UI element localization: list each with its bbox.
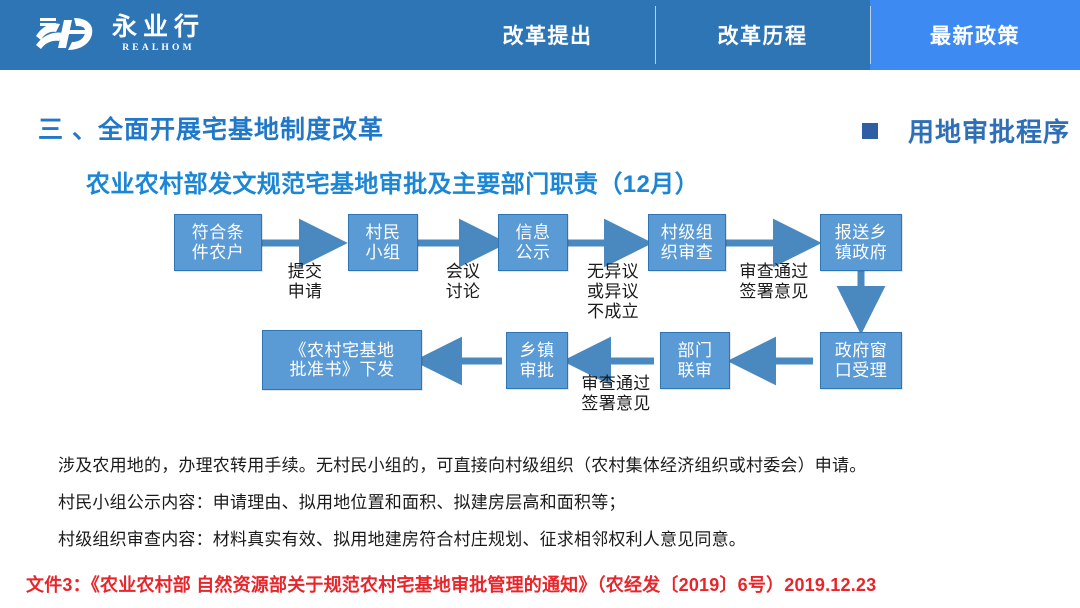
flow-node-eligible-farmer[interactable]: 符合条 件农户 — [174, 214, 262, 271]
flow-node-information-publicity[interactable]: 信息 公示 — [498, 214, 568, 271]
flow-node-village-org-review[interactable]: 村级组 织审查 — [648, 214, 726, 271]
flow-node-label: 报送乡 镇政府 — [835, 223, 888, 261]
flow-node-label: 村民 小组 — [366, 223, 401, 261]
flow-arrows — [0, 0, 1080, 608]
flow-node-approval-certificate-issued[interactable]: 《农村宅基地 批准书》下发 — [262, 330, 422, 390]
body-text-line-2: 村民小组公示内容：申请理由、拟用地位置和面积、拟建房层高和面积等； — [58, 488, 626, 513]
flow-node-label: 村级组 织审查 — [661, 223, 714, 261]
flow-node-label: 乡镇 审批 — [520, 341, 555, 379]
approval-flow-diagram: 符合条 件农户 村民 小组 信息 公示 村级组 织审查 报送乡 镇政府 政府窗 … — [0, 0, 1080, 608]
flow-node-gov-window-acceptance[interactable]: 政府窗 口受理 — [820, 332, 902, 389]
flow-node-submit-to-township-gov[interactable]: 报送乡 镇政府 — [820, 214, 902, 271]
flow-node-label: 政府窗 口受理 — [835, 341, 888, 379]
flow-edge-label-submit-application: 提交 申请 — [270, 262, 340, 302]
body-text-line-1: 涉及农用地的，办理农转用手续。无村民小组的，可直接向村级组织（农村集体经济组织或… — [58, 451, 866, 476]
flow-node-label: 符合条 件农户 — [192, 223, 245, 261]
body-text-line-3: 村级组织审查内容：材料真实有效、拟用地建房符合村庄规划、征求相邻权利人意见同意。 — [58, 525, 746, 550]
flow-node-joint-department-review[interactable]: 部门 联审 — [660, 332, 730, 389]
flow-node-label: 部门 联审 — [678, 341, 713, 379]
slide-root: 永业行 REALHOM 改革提出 改革历程 最新政策 三 、全面开展宅基地制度改… — [0, 0, 1080, 608]
flow-edge-label-no-objection: 无异议 或异议 不成立 — [580, 262, 646, 322]
flow-node-label: 《农村宅基地 批准书》下发 — [290, 341, 395, 379]
flow-edge-label-review-passed-bottom: 审查通过 签署意见 — [572, 374, 660, 414]
flow-node-township-approval[interactable]: 乡镇 审批 — [506, 332, 568, 389]
flow-node-label: 信息 公示 — [516, 223, 551, 261]
flow-node-villager-group[interactable]: 村民 小组 — [348, 214, 418, 271]
flow-edge-label-meeting-discussion: 会议 讨论 — [428, 262, 498, 302]
flow-edge-label-review-passed-top: 审查通过 签署意见 — [730, 262, 818, 302]
footnote-reference: 文件3：《农业农村部 自然资源部关于规范农村宅基地审批管理的通知》（农经发〔20… — [26, 571, 876, 597]
